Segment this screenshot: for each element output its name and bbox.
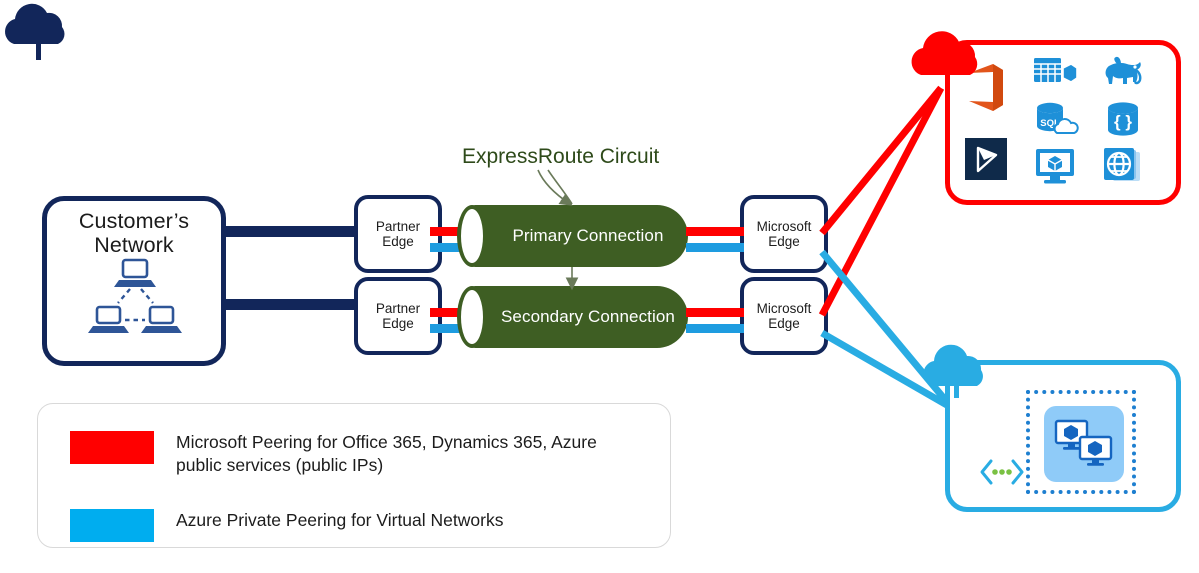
virtual-network-gateway-icon [978, 457, 1026, 487]
expressroute-diagram: Customer’s Network Partner Edge [0, 0, 1199, 573]
devices-network-icon [92, 258, 178, 340]
trunk-line-secondary [214, 299, 360, 310]
virtual-machines-icon [1044, 406, 1124, 482]
legend-label-microsoft-peering: Microsoft Peering for Office 365, Dynami… [176, 431, 646, 477]
partner-edge-1-line2: Edge [376, 234, 420, 249]
partner-edge-2-line2: Edge [376, 316, 420, 331]
partner-edge-label-2: Partner Edge [376, 301, 420, 331]
secondary-cylinder-cap [457, 286, 487, 348]
azure-services-icon-grid: SQL { } [1032, 57, 1146, 189]
hdinsight-elephant-icon [1100, 56, 1146, 97]
customer-title-line1: Customer’s [79, 209, 189, 233]
microsoft-edge-2-line1: Microsoft [757, 301, 812, 316]
legend-panel: Microsoft Peering for Office 365, Dynami… [37, 403, 671, 548]
partner-edge-box-2: Partner Edge [354, 277, 442, 355]
dynamics-365-icon [965, 138, 1007, 185]
web-apps-icon [1102, 147, 1144, 190]
trunk-line-primary [214, 226, 360, 237]
primary-cylinder-cap [457, 205, 487, 267]
peering-stripe-blue-primary-right [686, 243, 744, 252]
microsoft-edge-box-1: Microsoft Edge [740, 195, 828, 273]
red-route-secondary [822, 88, 941, 315]
partner-edge-box-1: Partner Edge [354, 195, 442, 273]
sql-database-icon: SQL [1033, 101, 1077, 144]
microsoft-edge-label-1: Microsoft Edge [757, 219, 812, 249]
svg-text:{ }: { } [1114, 112, 1132, 131]
microsoft-edge-1-line2: Edge [757, 234, 812, 249]
legend-swatch-red [70, 431, 154, 464]
virtual-network-boundary [1026, 390, 1136, 494]
customer-title-line2: Network [79, 233, 189, 257]
microsoft-edge-1-line1: Microsoft [757, 219, 812, 234]
peering-stripe-red-secondary-right [686, 308, 744, 317]
partner-edge-1-line1: Partner [376, 219, 420, 234]
partner-edge-label-1: Partner Edge [376, 219, 420, 249]
red-route-primary [822, 88, 941, 233]
blue-cloud-icon [918, 340, 1000, 388]
microsoft-edge-box-2: Microsoft Edge [740, 277, 828, 355]
cosmos-db-icon: { } [1104, 101, 1142, 144]
microsoft-edge-2-line2: Edge [757, 316, 812, 331]
sql-data-warehouse-icon [1033, 56, 1077, 97]
peering-stripe-blue-secondary-right [686, 324, 744, 333]
secondary-connection-label: Secondary Connection [501, 307, 675, 327]
legend-swatch-blue [70, 509, 154, 542]
legend-item-private-peering: Azure Private Peering for Virtual Networ… [70, 509, 503, 542]
peering-stripe-red-primary-right [686, 227, 744, 236]
red-cloud-icon [905, 25, 997, 77]
partner-edge-2-line1: Partner [376, 301, 420, 316]
legend-label-private-peering: Azure Private Peering for Virtual Networ… [176, 509, 503, 532]
virtual-machine-icon [1034, 147, 1076, 190]
expressroute-circuit-arrows [530, 168, 650, 298]
customer-network-title: Customer’s Network [79, 209, 189, 257]
legend-item-microsoft-peering: Microsoft Peering for Office 365, Dynami… [70, 431, 646, 477]
customer-cloud-icon [0, 0, 78, 46]
expressroute-circuit-label: ExpressRoute Circuit [462, 145, 659, 169]
microsoft-edge-label-2: Microsoft Edge [757, 301, 812, 331]
